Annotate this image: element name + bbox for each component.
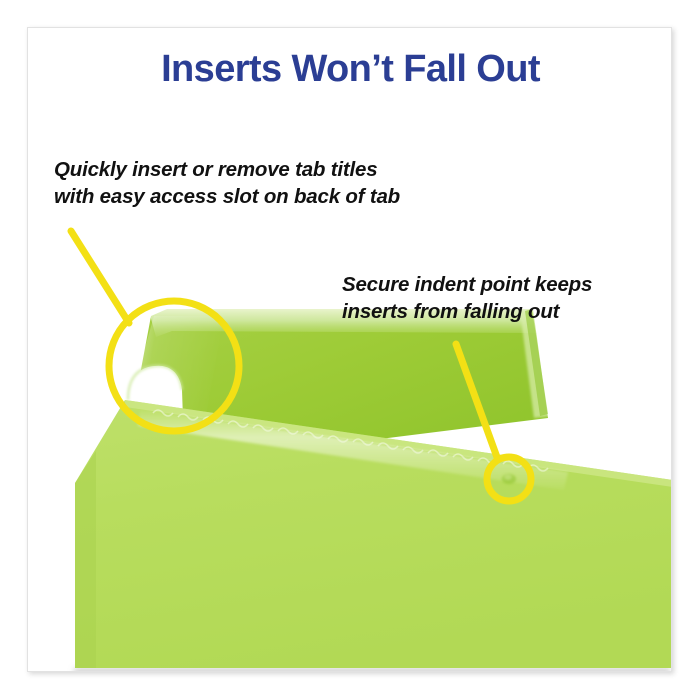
divider-sheet <box>75 400 672 668</box>
callout-right-line-1: Secure indent point keeps <box>342 271 592 298</box>
product-feature-card: Inserts Won’t Fall Out Quickly insert or… <box>27 27 672 672</box>
callout-right-line-2: inserts from falling out <box>342 298 592 325</box>
callout-left-line-2: with easy access slot on back of tab <box>54 183 400 210</box>
secure-indent-point <box>502 474 516 484</box>
sheet-drop-shadow <box>74 668 670 672</box>
access-slot-callout-text: Quickly insert or remove tab titles with… <box>54 156 400 211</box>
product-photo <box>28 28 672 672</box>
indent-point-callout-text: Secure indent point keeps inserts from f… <box>342 271 592 326</box>
screenshot-canvas: Inserts Won’t Fall Out Quickly insert or… <box>0 0 700 700</box>
page-title: Inserts Won’t Fall Out <box>28 50 672 88</box>
callout-left-line-1: Quickly insert or remove tab titles <box>54 156 400 183</box>
